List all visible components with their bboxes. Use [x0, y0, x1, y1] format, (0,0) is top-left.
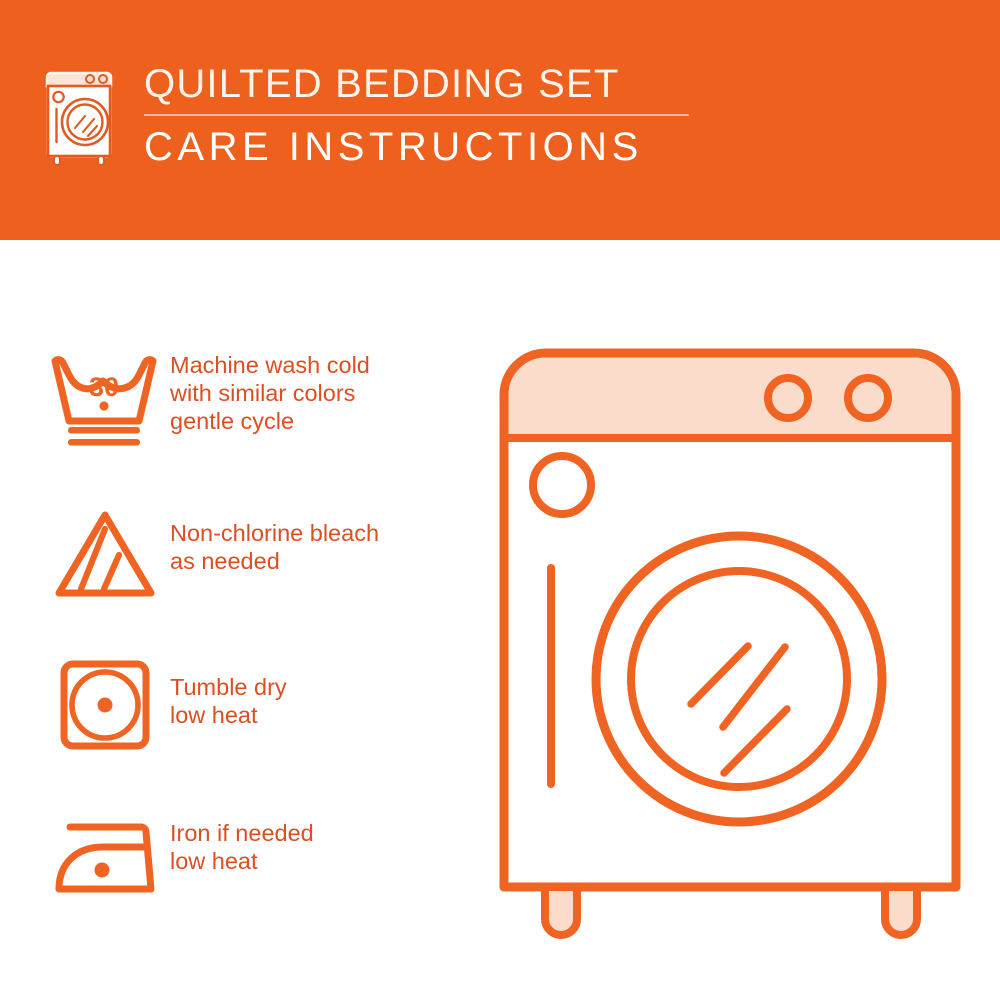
- front-load-washing-machine-illustration: [495, 335, 965, 940]
- iron-low-heat-icon: [40, 801, 170, 907]
- leg-left: [545, 887, 577, 935]
- title-divider: [144, 114, 689, 116]
- care-instruction-text: Machine wash cold with similar colors ge…: [170, 345, 370, 435]
- header-content: QUILTED BEDDING SET CARE INSTRUCTIONS: [40, 62, 689, 169]
- washing-machine-icon: [40, 64, 122, 168]
- tumble-dry-low-heat-icon: [40, 649, 170, 755]
- content-area: 30 Machine wash cold with similar colors…: [0, 240, 1000, 1000]
- care-instruction-item: 30 Machine wash cold with similar colors…: [40, 345, 470, 497]
- non-chlorine-bleach-triangle-icon: [40, 497, 170, 603]
- page-title-primary: QUILTED BEDDING SET: [144, 62, 689, 106]
- care-instruction-item: Tumble dry low heat: [40, 649, 470, 801]
- header-title-group: QUILTED BEDDING SET CARE INSTRUCTIONS: [144, 62, 689, 169]
- care-instruction-list: 30 Machine wash cold with similar colors…: [40, 345, 470, 953]
- page-title-secondary: CARE INSTRUCTIONS: [144, 125, 689, 169]
- care-instruction-text: Tumble dry low heat: [170, 649, 287, 729]
- leg-right: [885, 887, 917, 935]
- care-instruction-item: Iron if needed low heat: [40, 801, 470, 953]
- care-instruction-text: Non-chlorine bleach as needed: [170, 497, 379, 575]
- care-instruction-text: Iron if needed low heat: [170, 801, 314, 875]
- wash-temperature-label: 30: [89, 372, 119, 402]
- header-banner: QUILTED BEDDING SET CARE INSTRUCTIONS: [0, 0, 1000, 240]
- wash-tub-30-gentle-icon: 30: [40, 345, 170, 451]
- care-instruction-item: Non-chlorine bleach as needed: [40, 497, 470, 649]
